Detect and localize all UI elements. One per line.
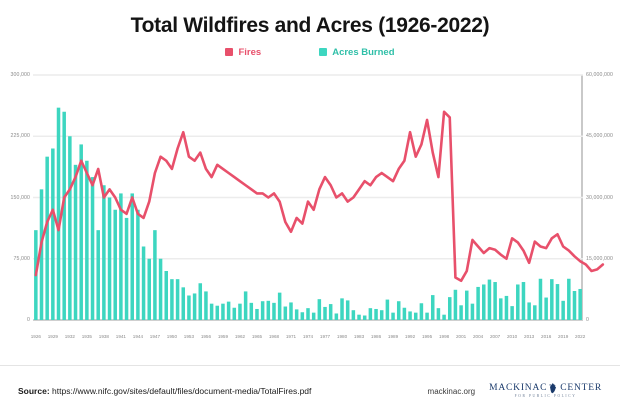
plot-area: 075,000150,000225,000300,000 015,000,000…: [0, 65, 620, 365]
x-tick: 1986: [371, 334, 381, 339]
x-tick: 1944: [133, 334, 143, 339]
x-tick: 1989: [388, 334, 398, 339]
x-tick: 1938: [99, 334, 109, 339]
x-tick: 1959: [218, 334, 228, 339]
y-tick-right: 30,000,000: [586, 195, 613, 201]
mackinac-center-logo: MACKINAC CENTER FOR PUBLIC POLICY: [489, 383, 602, 399]
x-tick: 1962: [235, 334, 245, 339]
x-tick: 1974: [303, 334, 313, 339]
x-tick: 1983: [354, 334, 364, 339]
site-url[interactable]: mackinac.org: [428, 387, 476, 396]
x-tick: 1971: [286, 334, 296, 339]
y-tick-left: 150,000: [11, 195, 30, 201]
x-tick: 1965: [252, 334, 262, 339]
logo-tagline: FOR PUBLIC POLICY: [515, 395, 577, 399]
logo-wordmark: MACKINAC CENTER: [489, 383, 602, 394]
x-tick: 2019: [558, 334, 568, 339]
logo-text-right: CENTER: [560, 384, 602, 394]
chart-legend: Fires Acres Burned: [0, 45, 620, 59]
x-tick: 1980: [337, 334, 347, 339]
y-tick-left: 0: [27, 317, 30, 323]
source-url[interactable]: https://www.nifc.gov/sites/default/files…: [52, 386, 311, 396]
fires-line: [33, 75, 583, 320]
x-tick: 2010: [507, 334, 517, 339]
x-tick: 1977: [320, 334, 330, 339]
x-tick: 2022: [575, 334, 585, 339]
plot-canvas: [33, 75, 583, 320]
y-tick-left: 75,000: [14, 256, 30, 262]
x-tick: 2007: [490, 334, 500, 339]
x-tick: 1950: [167, 334, 177, 339]
x-tick: 1947: [150, 334, 160, 339]
y-tick-right: 0: [586, 317, 589, 323]
x-tick: 1998: [439, 334, 449, 339]
x-tick: 1941: [116, 334, 126, 339]
footer-right: mackinac.org MACKINAC CENTER FOR PUBLIC …: [428, 383, 602, 399]
x-tick: 1929: [48, 334, 58, 339]
x-tick: 1956: [201, 334, 211, 339]
x-tick: 1932: [65, 334, 75, 339]
chart-footer: Source: https://www.nifc.gov/sites/defau…: [0, 366, 620, 416]
x-axis: 1926192919321935193819411944194719501953…: [33, 330, 583, 352]
x-tick: 1935: [82, 334, 92, 339]
x-tick: 2004: [473, 334, 483, 339]
y-tick-left: 300,000: [11, 72, 30, 78]
y-tick-right: 45,000,000: [586, 133, 613, 139]
logo-text-left: MACKINAC: [489, 384, 547, 394]
y-tick-left: 225,000: [11, 133, 30, 139]
chart-title: Total Wildfires and Acres (1926-2022): [0, 14, 620, 37]
x-tick: 1968: [269, 334, 279, 339]
legend-item-acres[interactable]: Acres Burned: [319, 47, 394, 58]
source-label: Source:: [18, 386, 50, 396]
x-tick: 1953: [184, 334, 194, 339]
x-tick: 2013: [524, 334, 534, 339]
y-tick-right: 60,000,000: [586, 72, 613, 78]
x-tick: 1926: [31, 334, 41, 339]
legend-swatch-acres: [319, 48, 327, 56]
source-line: Source: https://www.nifc.gov/sites/defau…: [18, 386, 311, 396]
legend-label-acres: Acres Burned: [332, 47, 394, 58]
legend-item-fires[interactable]: Fires: [225, 47, 261, 58]
y-tick-right: 15,000,000: [586, 256, 613, 262]
legend-label-fires: Fires: [238, 47, 261, 58]
x-tick: 1995: [422, 334, 432, 339]
x-tick: 1992: [405, 334, 415, 339]
x-tick: 2016: [541, 334, 551, 339]
legend-swatch-fires: [225, 48, 233, 56]
michigan-mitten-icon: [549, 383, 558, 394]
wildfire-chart-card: Total Wildfires and Acres (1926-2022) Fi…: [0, 0, 620, 416]
x-tick: 2001: [456, 334, 466, 339]
